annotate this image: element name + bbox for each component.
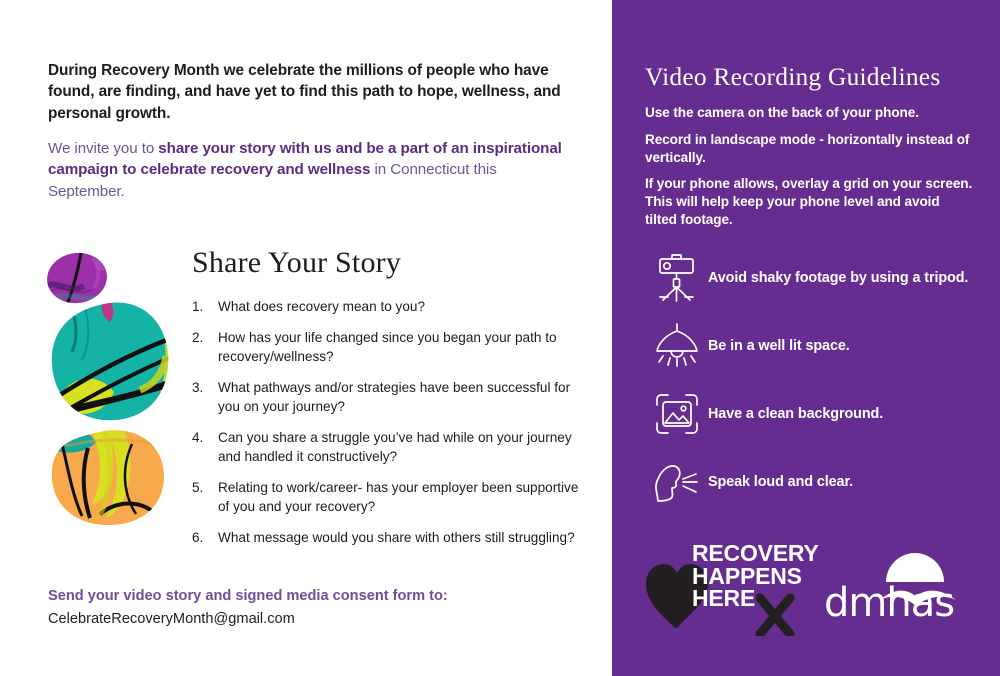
story-question-item: 1. What does recovery mean to you? (192, 298, 588, 316)
guideline-note: If your phone allows, overlay a grid on … (645, 175, 975, 228)
story-question-list: 1. What does recovery mean to you? 2. Ho… (192, 298, 588, 548)
story-question-item: 2. How has your life changed since you b… (192, 329, 588, 366)
share-your-story-section: Share Your Story 1. What does recovery m… (192, 246, 588, 561)
left-content-panel: During Recovery Month we celebrate the m… (0, 0, 612, 676)
tip-row: Be in a well lit space. (646, 316, 991, 376)
story-question-text: How has your life changed since you bega… (218, 329, 588, 366)
blob-purple (44, 252, 119, 312)
dmhas-logo: dmhas (824, 536, 974, 636)
submission-block: Send your video story and signed media c… (48, 586, 568, 631)
story-question-item: 5. Relating to work/career- has your emp… (192, 479, 588, 516)
story-question-text: What does recovery mean to you? (218, 298, 588, 316)
speaking-head-icon (646, 459, 708, 505)
tip-text: Have a clean background. (708, 405, 883, 423)
guidelines-title: Video Recording Guidelines (645, 62, 990, 92)
recovery-happens-here-wordmark: RECOVERY HAPPENS HERE (692, 542, 819, 610)
rhh-line-3: HERE (692, 587, 819, 610)
footer-logos: RECOVERY HAPPENS HERE dmhas (612, 532, 1000, 642)
video-guidelines-panel: Video Recording Guidelines Use the camer… (612, 0, 1000, 676)
tip-row: Have a clean background. (646, 384, 991, 444)
tip-row: Avoid shaky footage by using a tripod. (646, 248, 991, 308)
recovery-happens-here-logo: RECOVERY HAPPENS HERE (644, 540, 819, 636)
blob-artwork-svg (44, 252, 184, 527)
intro-invite-paragraph: We invite you to share your story with u… (48, 138, 568, 203)
guideline-tips: Avoid shaky footage by using a tripod. (646, 248, 991, 520)
rhh-line-1: RECOVERY (692, 542, 819, 565)
submission-title: Send your video story and signed media c… (48, 586, 568, 606)
story-question-number: 1. (192, 298, 218, 316)
submission-email[interactable]: CelebrateRecoveryMonth@gmail.com (48, 609, 568, 630)
blob-orange (44, 422, 184, 527)
brochure-page: During Recovery Month we celebrate the m… (0, 0, 1000, 676)
tripod-icon (646, 253, 708, 303)
image-frame-icon (646, 392, 708, 436)
story-question-number: 6. (192, 529, 218, 547)
guidelines-notes: Use the camera on the back of your phone… (645, 104, 975, 238)
story-question-text: What message would you share with others… (218, 529, 588, 547)
story-question-item: 4. Can you share a struggle you’ve had w… (192, 429, 588, 466)
story-question-text: Relating to work/career- has your employ… (218, 479, 588, 516)
decorative-blobs (44, 252, 184, 527)
story-question-text: What pathways and/or strategies have bee… (218, 379, 588, 416)
tip-text: Be in a well lit space. (708, 337, 850, 355)
lamp-icon (646, 322, 708, 370)
story-question-item: 3. What pathways and/or strategies have … (192, 379, 588, 416)
share-your-story-title: Share Your Story (192, 246, 588, 280)
story-question-number: 3. (192, 379, 218, 416)
tip-row: Speak loud and clear. (646, 452, 991, 512)
rhh-line-2: HAPPENS (692, 565, 819, 588)
tip-text: Avoid shaky footage by using a tripod. (708, 269, 968, 287)
intro-lead-paragraph: During Recovery Month we celebrate the m… (48, 60, 568, 124)
story-question-item: 6. What message would you share with oth… (192, 529, 588, 547)
story-question-number: 2. (192, 329, 218, 366)
story-question-number: 5. (192, 479, 218, 516)
story-question-number: 4. (192, 429, 218, 466)
invite-prefix: We invite you to (48, 140, 158, 157)
tip-text: Speak loud and clear. (708, 473, 853, 491)
dmhas-wordmark: dmhas (824, 580, 974, 626)
blob-teal (44, 292, 184, 432)
guideline-note: Use the camera on the back of your phone… (645, 104, 975, 122)
guideline-note: Record in landscape mode - horizontally … (645, 131, 975, 167)
intro-block: During Recovery Month we celebrate the m… (48, 60, 568, 202)
story-question-text: Can you share a struggle you’ve had whil… (218, 429, 588, 466)
